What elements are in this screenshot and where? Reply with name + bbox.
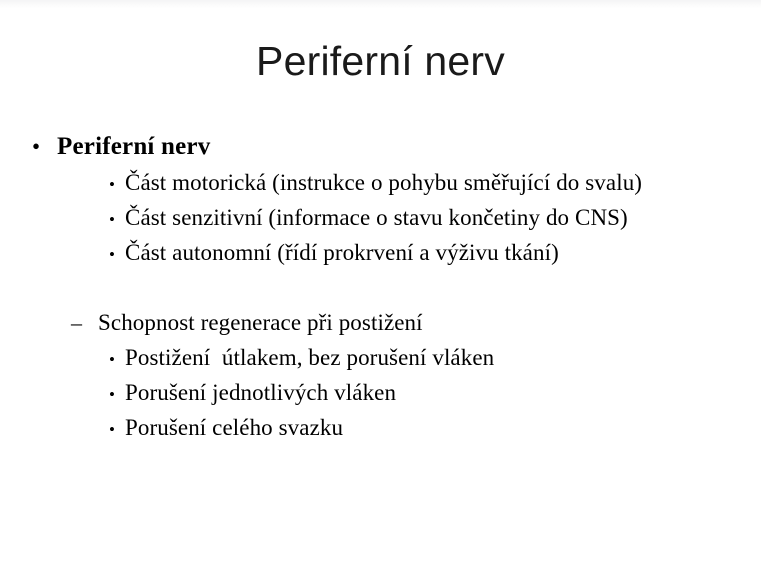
- bullet-item-level2: • Porušení celého svazku: [0, 415, 761, 450]
- bullet-dot-icon: •: [109, 351, 125, 368]
- slide-body: • Periferní nerv • Část motorická (instr…: [0, 133, 761, 450]
- bullet-text: Porušení celého svazku: [125, 415, 343, 441]
- bullet-text: Část autonomní (řídí prokrvení a výživu …: [125, 240, 559, 266]
- bullet-dot-icon: •: [109, 386, 125, 403]
- bullet-text: Postižení útlakem, bez porušení vláken: [125, 345, 494, 371]
- bullet-item-level1: • Periferní nerv: [0, 133, 761, 170]
- bullet-item-level2: • Část autonomní (řídí prokrvení a výživ…: [0, 240, 761, 275]
- bullet-text: Část motorická (instrukce o pohybu směřu…: [125, 170, 642, 196]
- bullet-dash-icon: –: [71, 312, 98, 334]
- bullet-dot-icon: •: [109, 246, 125, 263]
- bullet-text: Schopnost regenerace při postižení: [98, 310, 423, 336]
- bullet-item-level2: • Porušení jednotlivých vláken: [0, 380, 761, 415]
- bullet-item-level2-dash: – Schopnost regenerace při postižení: [0, 310, 761, 345]
- bullet-text: Periferní nerv: [57, 133, 210, 161]
- presentation-slide: Periferní nerv • Periferní nerv • Část m…: [0, 0, 761, 575]
- bullet-dot-icon: •: [109, 176, 125, 193]
- bullet-text: Část senzitivní (informace o stavu konče…: [125, 205, 628, 231]
- page-title: Periferní nerv: [0, 38, 761, 85]
- slide-top-edge-strip: [0, 0, 761, 9]
- bullet-dot-icon: •: [109, 421, 125, 438]
- bullet-dot-icon: •: [32, 135, 57, 158]
- bullet-text: Porušení jednotlivých vláken: [125, 380, 396, 406]
- bullet-spacer: [0, 275, 761, 310]
- bullet-item-level2: • Část motorická (instrukce o pohybu smě…: [0, 170, 761, 205]
- bullet-dot-icon: •: [109, 211, 125, 228]
- bullet-item-level2: • Postižení útlakem, bez porušení vláken: [0, 345, 761, 380]
- bullet-item-level2: • Část senzitivní (informace o stavu kon…: [0, 205, 761, 240]
